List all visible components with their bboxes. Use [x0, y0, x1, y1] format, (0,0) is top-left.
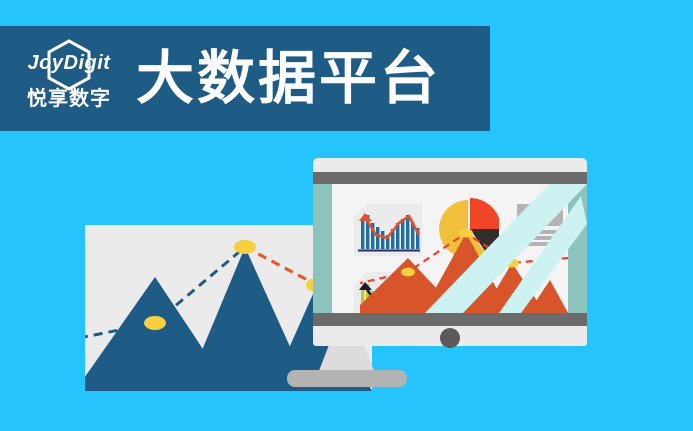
data-point-marker: [401, 268, 415, 277]
power-button[interactable]: [440, 328, 460, 348]
monitor-top-strip: [313, 172, 587, 184]
desktop-monitor: [313, 158, 587, 346]
data-point-marker: [459, 229, 473, 238]
monitor-stand-base: [287, 370, 407, 387]
monitor-bottom-strip: [313, 313, 587, 326]
page-title: 大数据平台: [136, 47, 441, 111]
placeholder-heading: [517, 204, 563, 226]
data-point-marker: [144, 316, 166, 330]
screen-content-area: [332, 184, 568, 313]
main-mountain-area-chart: [360, 228, 568, 313]
logo-wordmark: JoyDigit: [14, 53, 124, 73]
header-banner: JoyDigit 悦享数字 大数据平台: [0, 26, 490, 131]
illustration-canvas: JoyDigit 悦享数字 大数据平台: [0, 0, 693, 431]
brand-logo[interactable]: JoyDigit 悦享数字: [14, 37, 124, 121]
data-point-marker: [234, 240, 256, 254]
pie-slice-red: [470, 198, 499, 229]
trend-arrow-up-icon: [359, 213, 372, 221]
data-point-marker: [505, 259, 519, 268]
monitor-screen: [313, 184, 587, 313]
logo-subtitle: 悦享数字: [14, 89, 124, 109]
